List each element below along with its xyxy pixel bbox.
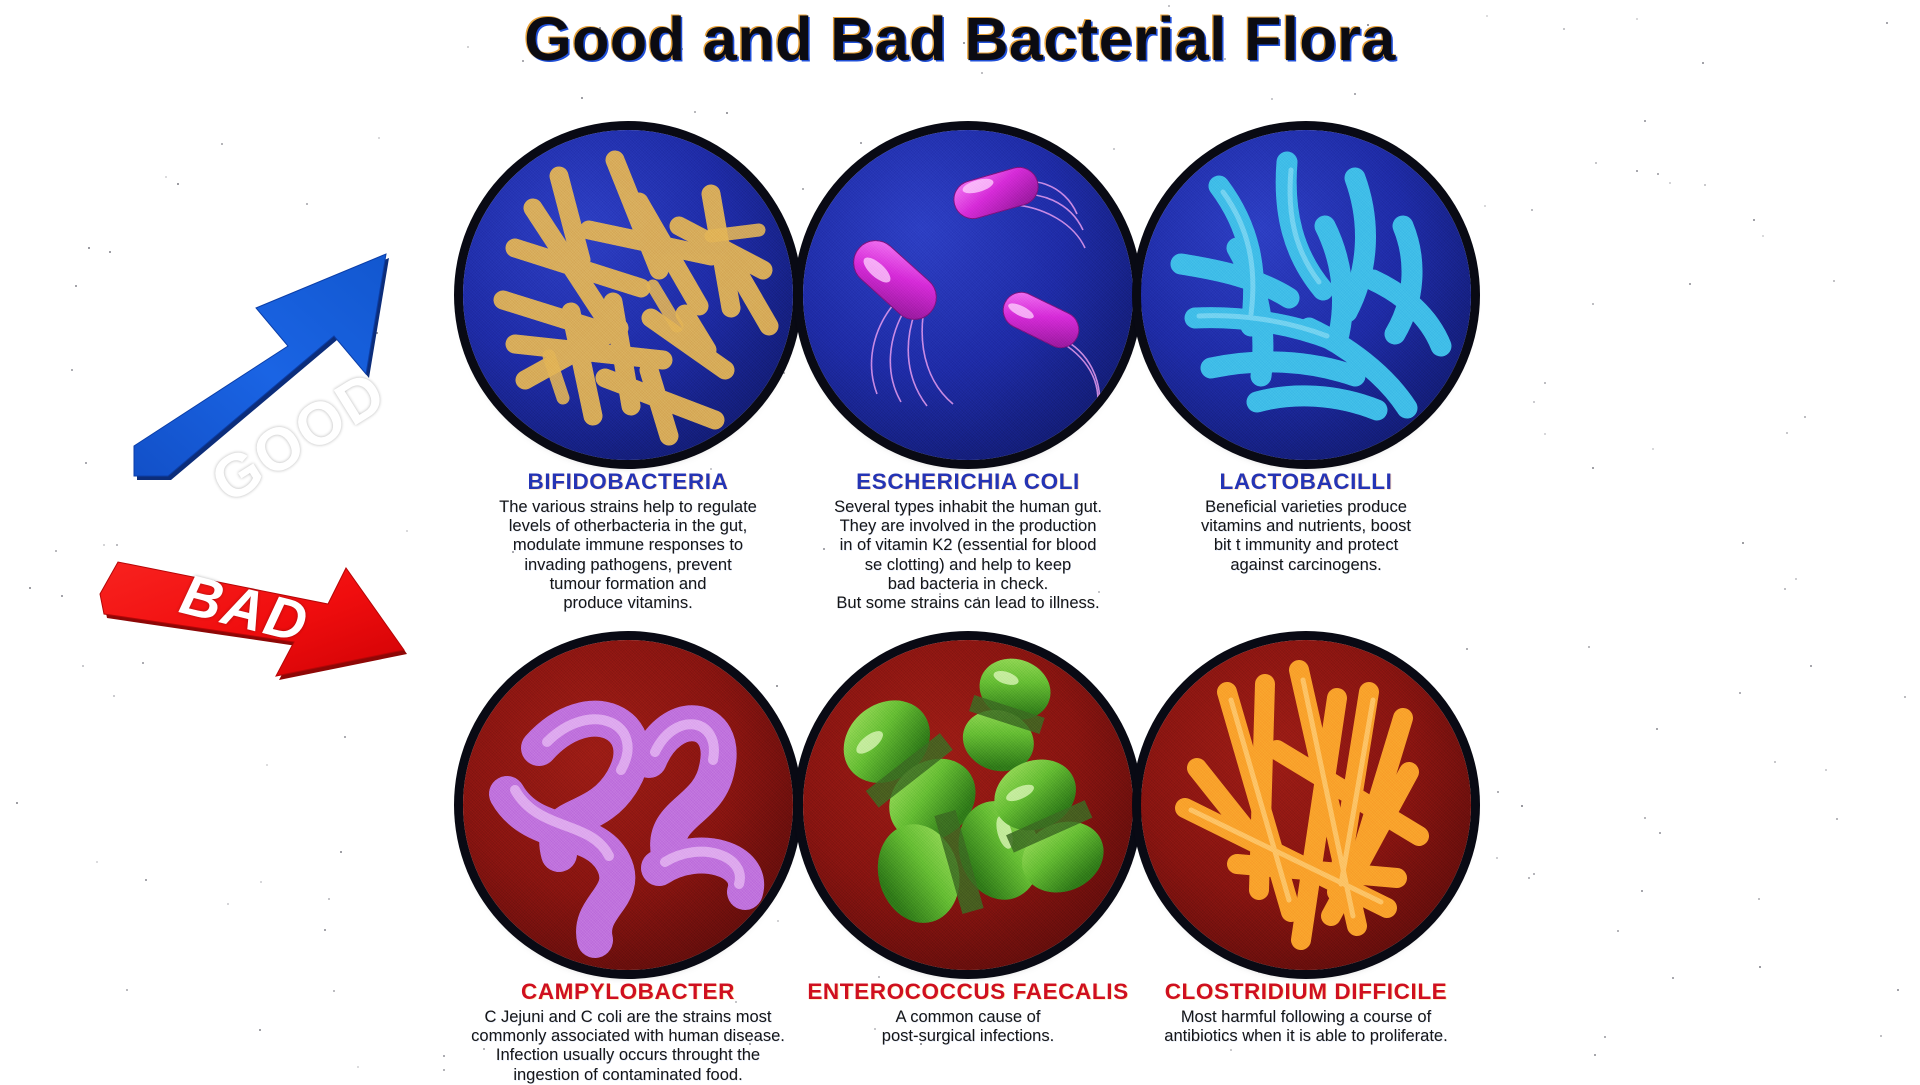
bacteria-name: LACTOBACILLI [1106, 470, 1506, 495]
dish-surface [463, 130, 793, 460]
bacteria-card-clostridium-difficile[interactable]: CLOSTRIDIUM DIFFICILE Most harmful follo… [1106, 640, 1506, 1046]
dish-surface [463, 640, 793, 970]
petri-dish-campylobacter [463, 640, 793, 970]
bacteria-description: Most harmful following a course of antib… [1106, 1008, 1506, 1047]
dish-surface [1141, 130, 1471, 460]
petri-dish-escherichia-coli [803, 130, 1133, 460]
bad-arrow: BAD [96, 540, 408, 680]
enterococcus-faecalis-organisms [803, 640, 1133, 970]
dish-surface [803, 130, 1133, 460]
petri-dish-bifidobacteria [463, 130, 793, 460]
petri-dish-clostridium-difficile [1141, 640, 1471, 970]
caption-lactobacilli: LACTOBACILLI Beneficial varieties produc… [1106, 470, 1506, 575]
dish-surface [803, 640, 1133, 970]
dish-surface [1141, 640, 1471, 970]
page-title: Good and Bad Bacterial Flora [0, 4, 1920, 74]
clostridium-difficile-organisms [1141, 640, 1471, 970]
bacteria-description: Beneficial varieties produce vitamins an… [1106, 498, 1506, 575]
good-arrow: GOOD [128, 250, 400, 480]
bacteria-card-lactobacilli[interactable]: LACTOBACILLI Beneficial varieties produc… [1106, 130, 1506, 575]
escherichia-coli-organisms [803, 130, 1133, 460]
bifidobacteria-organisms [463, 130, 793, 460]
bacteria-name: CLOSTRIDIUM DIFFICILE [1106, 980, 1506, 1005]
campylobacter-organisms [463, 640, 793, 970]
lactobacilli-organisms [1141, 130, 1471, 460]
caption-clostridium-difficile: CLOSTRIDIUM DIFFICILE Most harmful follo… [1106, 980, 1506, 1046]
petri-dish-lactobacilli [1141, 130, 1471, 460]
petri-dish-enterococcus-faecalis [803, 640, 1133, 970]
